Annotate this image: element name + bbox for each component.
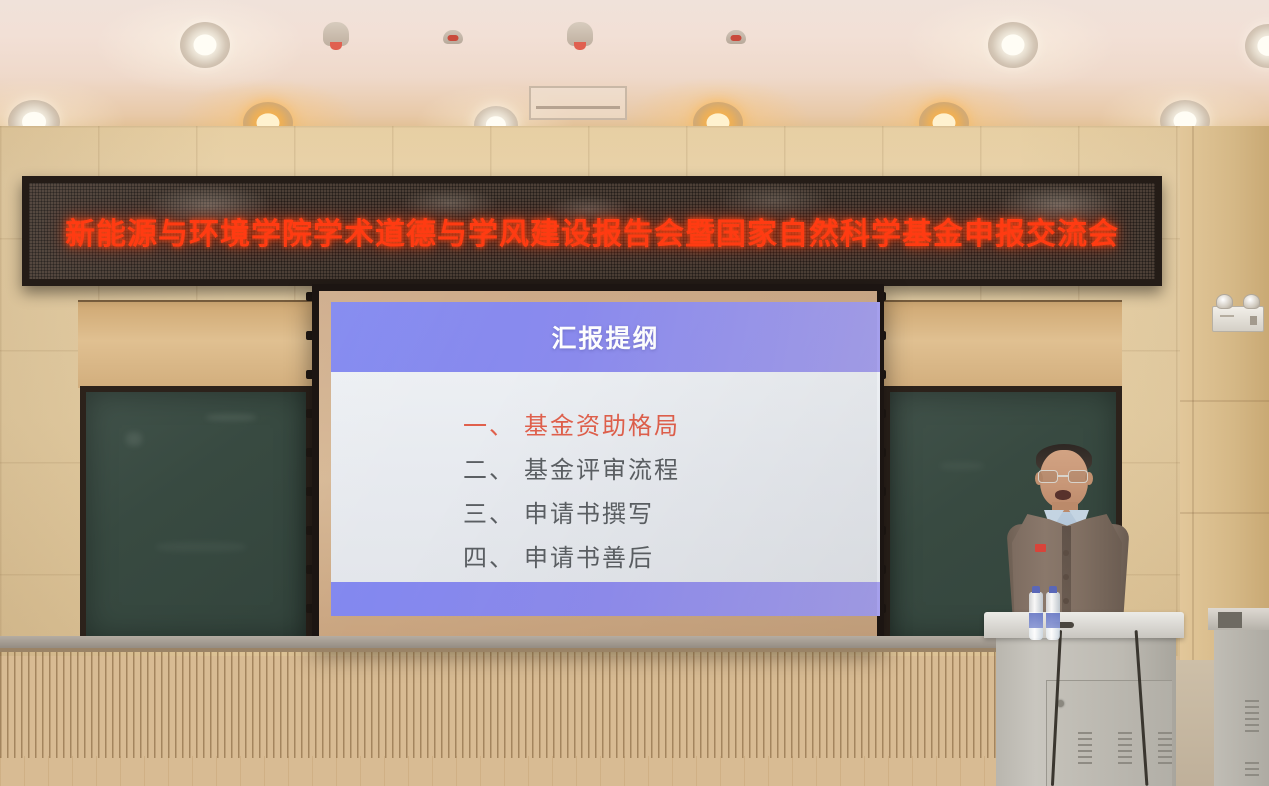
emergency-light-fixture bbox=[1212, 306, 1264, 332]
slide-item-label: 基金资助格局 bbox=[524, 412, 680, 440]
led-banner: 新能源与环境学院学术道德与学风建设报告会暨国家自然科学基金申报交流会 bbox=[22, 176, 1162, 286]
presenter-mouth bbox=[1055, 490, 1071, 500]
smoke-detector-icon bbox=[323, 22, 349, 46]
stage-floor bbox=[0, 756, 1000, 786]
slide-body: 一、基金资助格局 二、基金评审流程 三、申请书撰写 四、申请书善后 bbox=[331, 372, 880, 582]
slide-header-band: 汇报提纲 bbox=[331, 302, 880, 372]
slide-outline-item-3: 三、申请书撰写 bbox=[463, 502, 880, 526]
emergency-lamp-icon bbox=[1243, 294, 1260, 309]
glasses-icon bbox=[1037, 470, 1091, 483]
slide-item-number: 三、 bbox=[463, 500, 515, 528]
stage-front-slats bbox=[0, 648, 1000, 758]
cardigan-button bbox=[1063, 574, 1069, 580]
wall-seam bbox=[1180, 400, 1269, 402]
podium-vent-slots bbox=[1158, 732, 1172, 768]
slide-item-label: 申请书善后 bbox=[524, 544, 654, 572]
projection-screen: 汇报提纲 一、基金资助格局 二、基金评审流程 三、申请书撰写 四、申请书善后 bbox=[312, 284, 884, 644]
smoke-detector-icon bbox=[567, 22, 593, 46]
smoke-detector-icon bbox=[443, 30, 463, 44]
led-banner-text: 新能源与环境学院学术道德与学风建设报告会暨国家自然科学基金申报交流会 bbox=[65, 209, 1119, 253]
podium-vent-slots bbox=[1078, 732, 1092, 768]
slide-outline-item-1: 一、基金资助格局 bbox=[463, 414, 880, 438]
slide-item-label: 基金评审流程 bbox=[524, 456, 680, 484]
cardigan-button bbox=[1063, 550, 1069, 556]
ceiling-downlight-white bbox=[988, 22, 1038, 68]
slide-item-number: 一、 bbox=[463, 412, 515, 440]
slide-outline-item-4: 四、申请书善后 bbox=[463, 546, 880, 570]
slide-item-number: 四、 bbox=[463, 544, 515, 572]
podium-front-panel bbox=[1046, 680, 1172, 786]
wall-seam bbox=[1180, 512, 1269, 514]
blackboard-left bbox=[80, 386, 312, 644]
ceiling-vent bbox=[529, 86, 627, 120]
side-cabinet-body bbox=[1214, 630, 1269, 786]
slide-outline-item-2: 二、基金评审流程 bbox=[463, 458, 880, 482]
slide-title: 汇报提纲 bbox=[551, 319, 659, 355]
wood-panel-above-right-board bbox=[884, 300, 1122, 388]
presentation-slide: 汇报提纲 一、基金资助格局 二、基金评审流程 三、申请书撰写 四、申请书善后 bbox=[331, 302, 880, 616]
cardigan-button bbox=[1063, 598, 1069, 604]
podium-top bbox=[984, 612, 1184, 638]
presenter-badge bbox=[1035, 544, 1046, 552]
side-cabinet-notch bbox=[1218, 612, 1242, 628]
wood-panel-above-left-board bbox=[78, 300, 318, 388]
lecture-hall-scene: 新能源与环境学院学术道德与学风建设报告会暨国家自然科学基金申报交流会 汇报提纲 … bbox=[0, 0, 1269, 786]
emergency-lamp-icon bbox=[1216, 294, 1233, 309]
led-banner-screen: 新能源与环境学院学术道德与学风建设报告会暨国家自然科学基金申报交流会 bbox=[29, 183, 1155, 279]
podium-vent-slots bbox=[1118, 732, 1132, 768]
presenter bbox=[996, 440, 1146, 640]
ceiling-downlight-white bbox=[180, 22, 230, 68]
slide-item-number: 二、 bbox=[463, 456, 515, 484]
water-bottle[interactable] bbox=[1029, 592, 1043, 640]
side-cabinet-vent-slots bbox=[1245, 700, 1259, 736]
right-side-wall bbox=[1180, 126, 1269, 686]
smoke-detector-icon bbox=[726, 30, 746, 44]
water-bottle[interactable] bbox=[1046, 592, 1060, 640]
side-cabinet-vent-slots bbox=[1245, 762, 1259, 780]
ceiling-light-glow bbox=[0, 0, 1269, 140]
slide-item-label: 申请书撰写 bbox=[524, 500, 654, 528]
slide-footer-band bbox=[331, 582, 880, 616]
